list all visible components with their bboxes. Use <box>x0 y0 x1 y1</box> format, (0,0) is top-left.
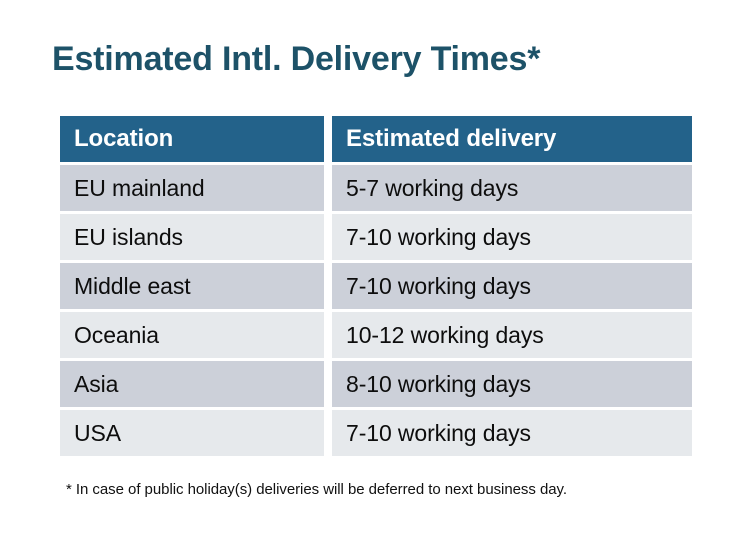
footnote-text: * In case of public holiday(s) deliverie… <box>66 480 567 500</box>
table-row: USA 7-10 working days <box>60 410 692 456</box>
cell-delivery: 5-7 working days <box>332 165 692 211</box>
table-row: Asia 8-10 working days <box>60 361 692 407</box>
table-row: Middle east 7-10 working days <box>60 263 692 309</box>
cell-delivery: 10-12 working days <box>332 312 692 358</box>
cell-location: USA <box>60 410 324 456</box>
cell-delivery: 8-10 working days <box>332 361 692 407</box>
table-body: EU mainland 5-7 working days EU islands … <box>60 165 692 456</box>
table-row: EU mainland 5-7 working days <box>60 165 692 211</box>
cell-location: Oceania <box>60 312 324 358</box>
cell-location: EU islands <box>60 214 324 260</box>
table-row: EU islands 7-10 working days <box>60 214 692 260</box>
cell-location: Asia <box>60 361 324 407</box>
cell-location: Middle east <box>60 263 324 309</box>
table-header: Location Estimated delivery <box>60 116 692 162</box>
table-header-row: Location Estimated delivery <box>60 116 692 162</box>
delivery-times-table: Location Estimated delivery EU mainland … <box>52 113 700 459</box>
column-header-delivery: Estimated delivery <box>332 116 692 162</box>
cell-location: EU mainland <box>60 165 324 211</box>
delivery-times-card: Estimated Intl. Delivery Times* Location… <box>0 0 745 536</box>
table-row: Oceania 10-12 working days <box>60 312 692 358</box>
cell-delivery: 7-10 working days <box>332 410 692 456</box>
page-title: Estimated Intl. Delivery Times* <box>52 37 540 81</box>
column-header-location: Location <box>60 116 324 162</box>
cell-delivery: 7-10 working days <box>332 214 692 260</box>
cell-delivery: 7-10 working days <box>332 263 692 309</box>
